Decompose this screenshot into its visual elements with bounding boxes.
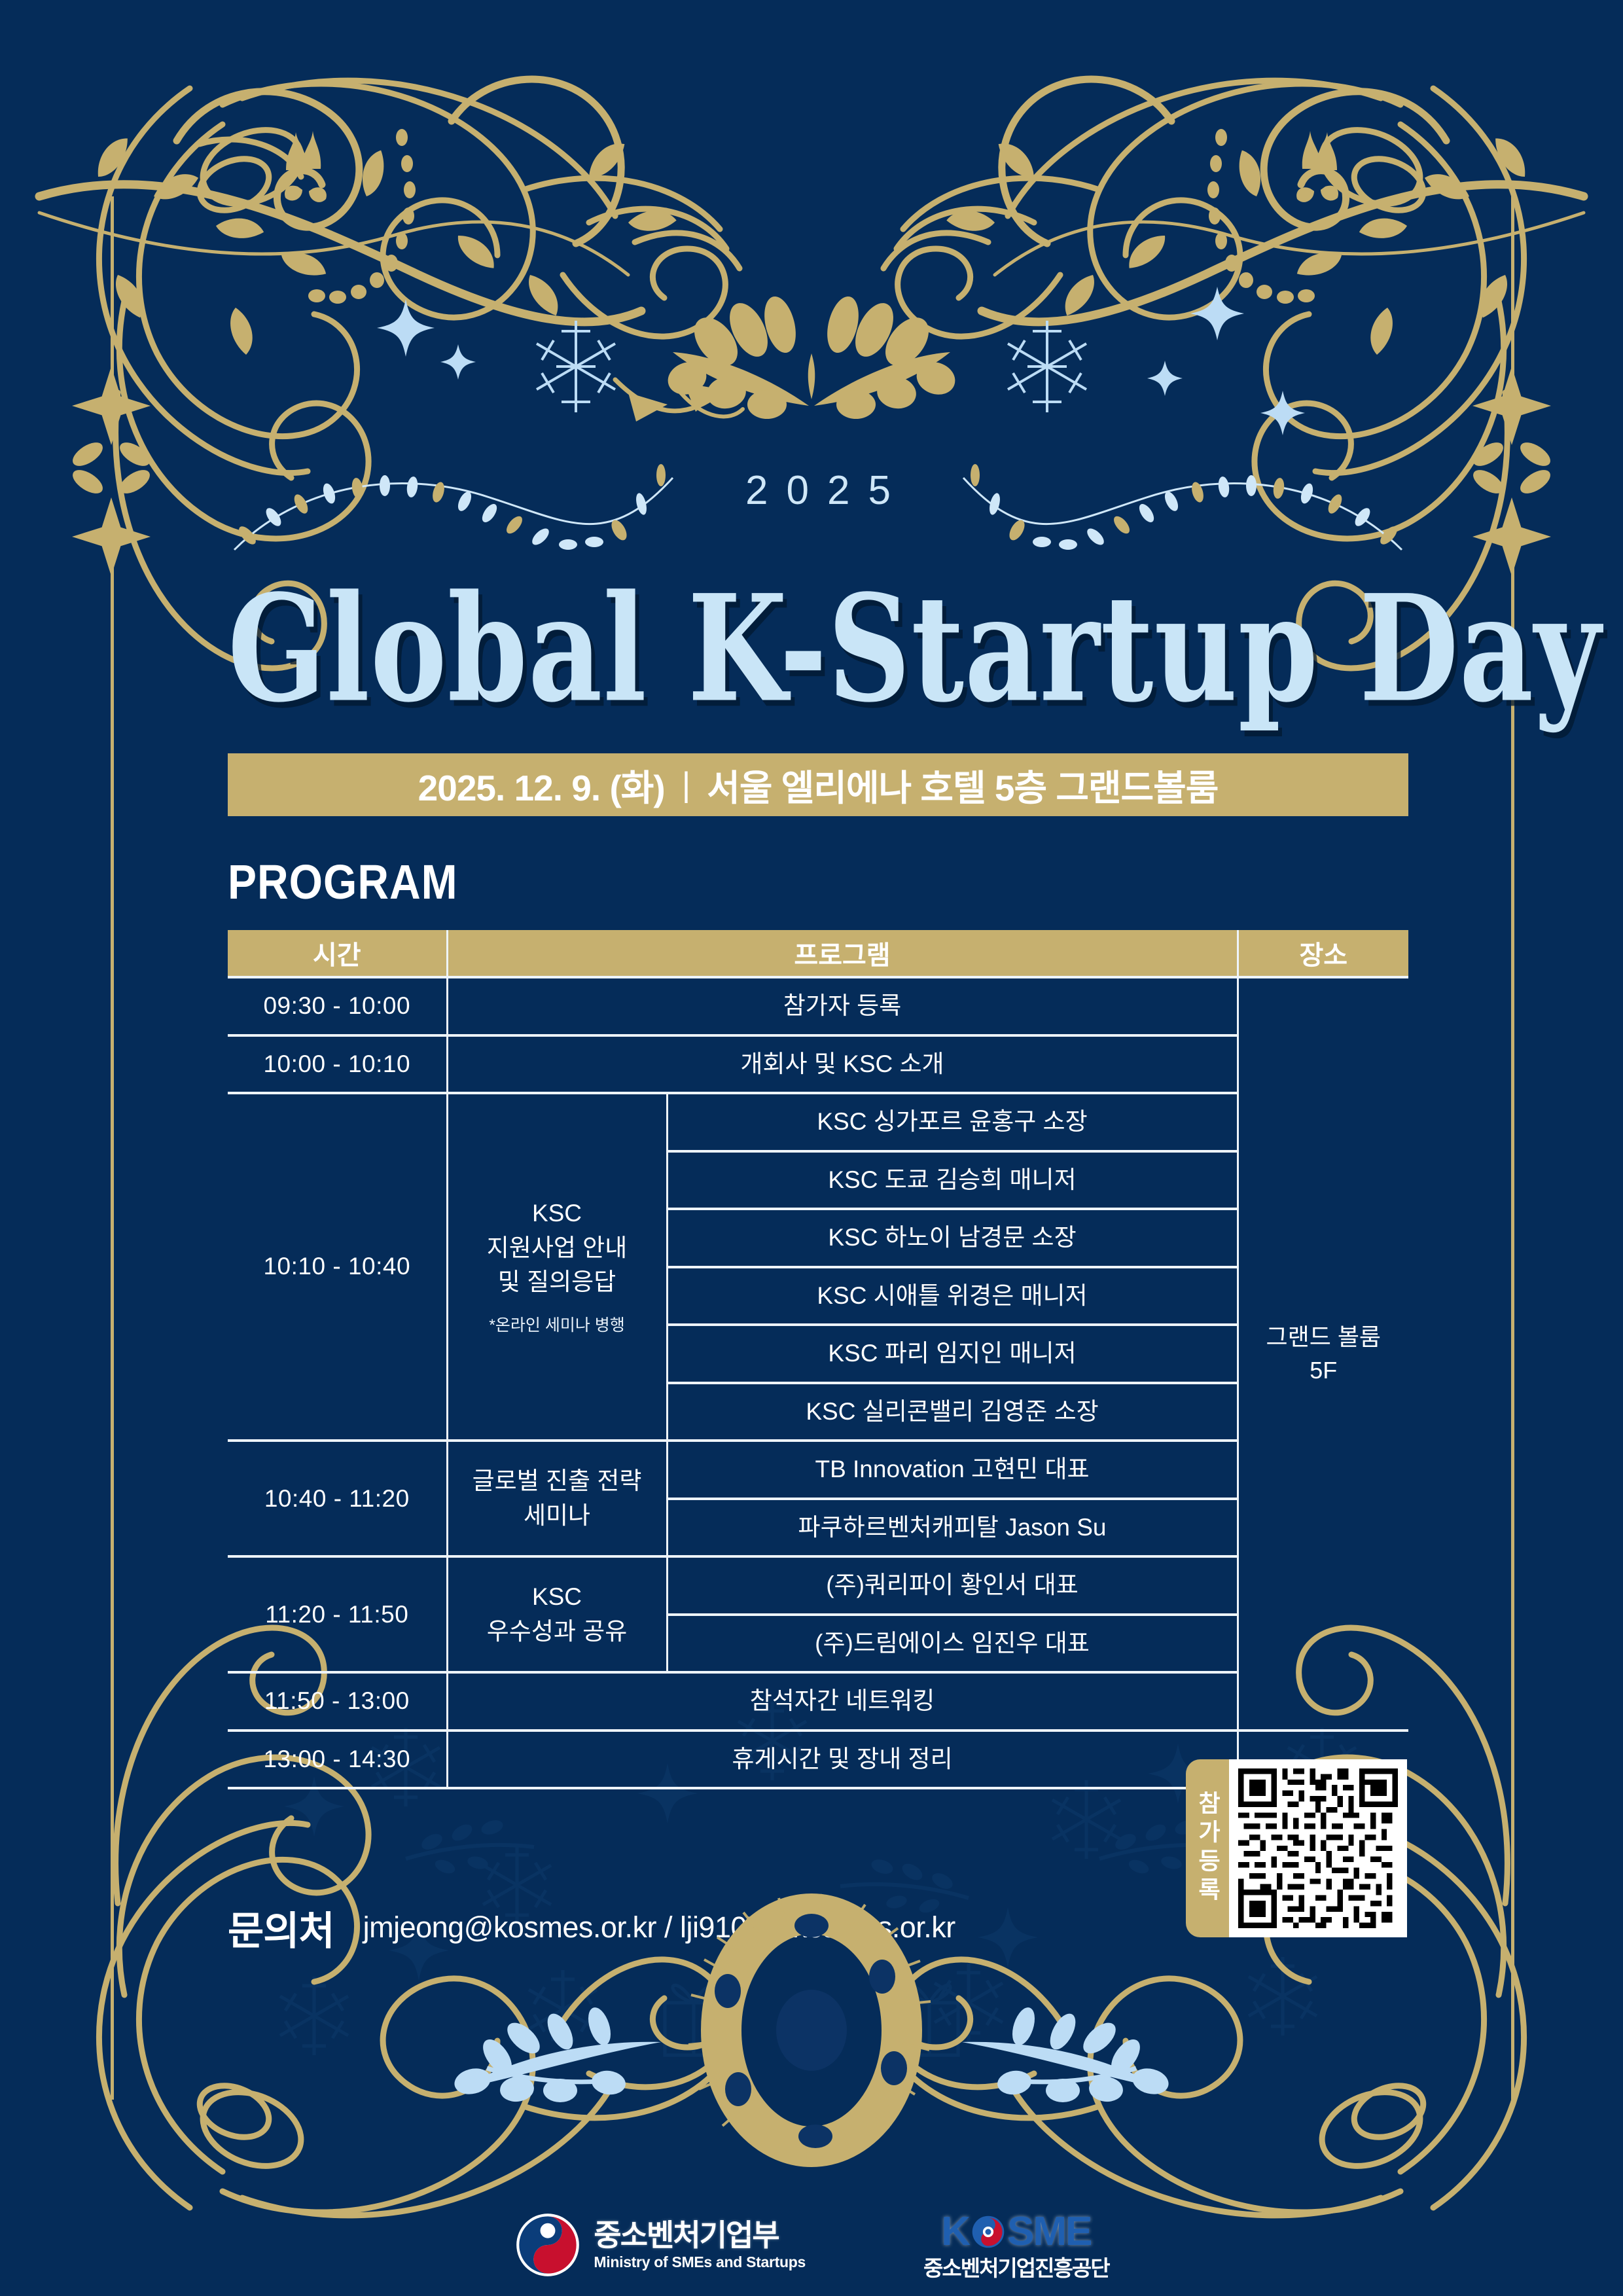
sprig-left <box>452 2005 661 2104</box>
taeguk-icon <box>514 2211 582 2279</box>
track-line-1: 글로벌 진출 전략 <box>454 1464 661 1499</box>
ministry-logo: 중소벤처기업부 Ministry of SMEs and Startups <box>514 2211 806 2279</box>
cell-program: KSC 시애틀 위경은 매니저 <box>667 1267 1238 1325</box>
cell-program: 개회사 및 KSC 소개 <box>447 1035 1238 1094</box>
footer-logos: 중소벤처기업부 Ministry of SMEs and Startups K … <box>0 2211 1623 2279</box>
sprig-right <box>962 2005 1171 2104</box>
cell-time: 13:00 - 14:30 <box>228 1731 447 1789</box>
track-line-2: 우수성과 공유 <box>454 1615 661 1649</box>
track-line-2: 세미나 <box>454 1499 661 1534</box>
kosme-swirl-icon <box>971 2214 1006 2250</box>
cell-track: KSC 지원사업 안내 및 질의응답 *온라인 세미나 병행 <box>447 1093 667 1441</box>
column-header-program: 프로그램 <box>447 930 1238 977</box>
cell-time: 10:40 - 11:20 <box>228 1441 447 1556</box>
table-row: 11:50 - 13:00 참석자간 네트워킹 <box>228 1672 1408 1731</box>
flower-ornament <box>72 429 151 507</box>
kosme-mark-right: SME <box>1007 2212 1091 2252</box>
qr-tab-label: 참가등록 <box>1190 1791 1224 1906</box>
cell-program: KSC 하노이 남경문 소장 <box>667 1209 1238 1267</box>
cell-time: 09:30 - 10:00 <box>228 977 447 1035</box>
flower-ornament <box>1472 429 1551 507</box>
cell-track: 글로벌 진출 전략 세미나 <box>447 1441 667 1556</box>
event-date: 2025. 12. 9. (화) <box>418 759 665 811</box>
track-line-1: KSC <box>454 1196 661 1231</box>
track-line-3: 및 질의응답 <box>454 1265 661 1300</box>
qr-code[interactable] <box>1229 1759 1407 1937</box>
cell-program: 참가자 등록 <box>447 977 1238 1035</box>
cell-program: 파쿠하르벤처캐피탈 Jason Su <box>667 1499 1238 1557</box>
cell-time: 11:20 - 11:50 <box>228 1556 447 1672</box>
program-table: 시간 프로그램 장소 09:30 - 10:00 참가자 등록 그랜드 볼룸5F… <box>228 930 1408 1789</box>
table-row: 10:10 - 10:40 KSC 지원사업 안내 및 질의응답 *온라인 세미… <box>228 1093 1408 1151</box>
diamond-ornament <box>1472 367 1551 445</box>
cell-program: (주)드림에이스 임진우 대표 <box>667 1615 1238 1673</box>
cell-track: KSC 우수성과 공유 <box>447 1556 667 1672</box>
column-header-time: 시간 <box>228 930 447 977</box>
cell-program: 참석자간 네트워킹 <box>447 1672 1238 1731</box>
cell-program: KSC 파리 임지인 매니저 <box>667 1325 1238 1383</box>
table-row: 11:20 - 11:50 KSC 우수성과 공유 (주)쿼리파이 황인서 대표 <box>228 1556 1408 1615</box>
track-line-2: 지원사업 안내 <box>454 1231 661 1266</box>
page-title: Global K-Startup Day <box>228 576 1408 723</box>
side-rule-right <box>1469 196 1554 2100</box>
bar-separator: | <box>682 765 690 804</box>
contact-emails[interactable]: jmjeong@kosmes.or.kr / lji9107@kosmes.or… <box>363 1910 955 1945</box>
event-venue: 서울 엘리에나 호텔 5층 그랜드볼룸 <box>707 759 1218 811</box>
garland-and-year: 2025 <box>228 452 1408 569</box>
kosme-name-ko: 중소벤처기업진흥공단 <box>923 2257 1109 2279</box>
diamond-ornament <box>72 367 151 445</box>
cell-program: TB Innovation 고현민 대표 <box>667 1441 1238 1499</box>
cell-time: 10:00 - 10:10 <box>228 1035 447 1094</box>
cell-program: 휴게시간 및 장내 정리 <box>447 1731 1238 1789</box>
cell-program: (주)쿼리파이 황인서 대표 <box>667 1556 1238 1615</box>
program-heading: PROGRAM <box>228 853 1408 909</box>
ministry-name-ko: 중소벤처기업부 <box>594 2220 806 2250</box>
track-line-1: KSC <box>454 1580 661 1615</box>
track-note: *온라인 세미나 병행 <box>454 1314 661 1338</box>
diamond-ornament <box>72 497 151 576</box>
column-header-venue: 장소 <box>1238 930 1408 977</box>
table-header-row: 시간 프로그램 장소 <box>228 930 1408 977</box>
qr-registration-block[interactable]: 참가등록 <box>1186 1759 1407 1937</box>
table-row: 10:00 - 10:10 개회사 및 KSC 소개 <box>228 1035 1408 1094</box>
ministry-name-en: Ministry of SMEs and Startups <box>594 2255 806 2270</box>
table-row: 10:40 - 11:20 글로벌 진출 전략 세미나 TB Innovatio… <box>228 1441 1408 1499</box>
poster-root: 2025 Global K-Startup Day 2025. 12. 9. (… <box>0 0 1623 2296</box>
cell-program: KSC 싱가포르 윤홍구 소장 <box>667 1093 1238 1151</box>
cell-program: KSC 도쿄 김승희 매니저 <box>667 1151 1238 1210</box>
cell-time: 11:50 - 13:00 <box>228 1672 447 1731</box>
side-rule-left <box>69 196 154 2100</box>
contact-label: 문의처 <box>228 1899 334 1956</box>
cell-program: KSC 실리콘밸리 김영준 소장 <box>667 1383 1238 1441</box>
date-venue-bar: 2025. 12. 9. (화) | 서울 엘리에나 호텔 5층 그랜드볼룸 <box>228 753 1408 816</box>
cell-time: 10:10 - 10:40 <box>228 1093 447 1441</box>
kosme-mark-left: K <box>941 2212 969 2252</box>
qr-tab: 참가등록 <box>1186 1759 1229 1937</box>
cell-venue: 그랜드 볼룸5F <box>1238 977 1408 1731</box>
content-column: 2025 Global K-Startup Day 2025. 12. 9. (… <box>228 0 1408 2003</box>
venue-line-1: 그랜드 볼룸5F <box>1244 1320 1404 1387</box>
table-row: 09:30 - 10:00 참가자 등록 그랜드 볼룸5F <box>228 977 1408 1035</box>
year-label: 2025 <box>228 467 1408 514</box>
kosme-logo: K SME 중소벤처기업진흥공단 <box>923 2212 1109 2279</box>
